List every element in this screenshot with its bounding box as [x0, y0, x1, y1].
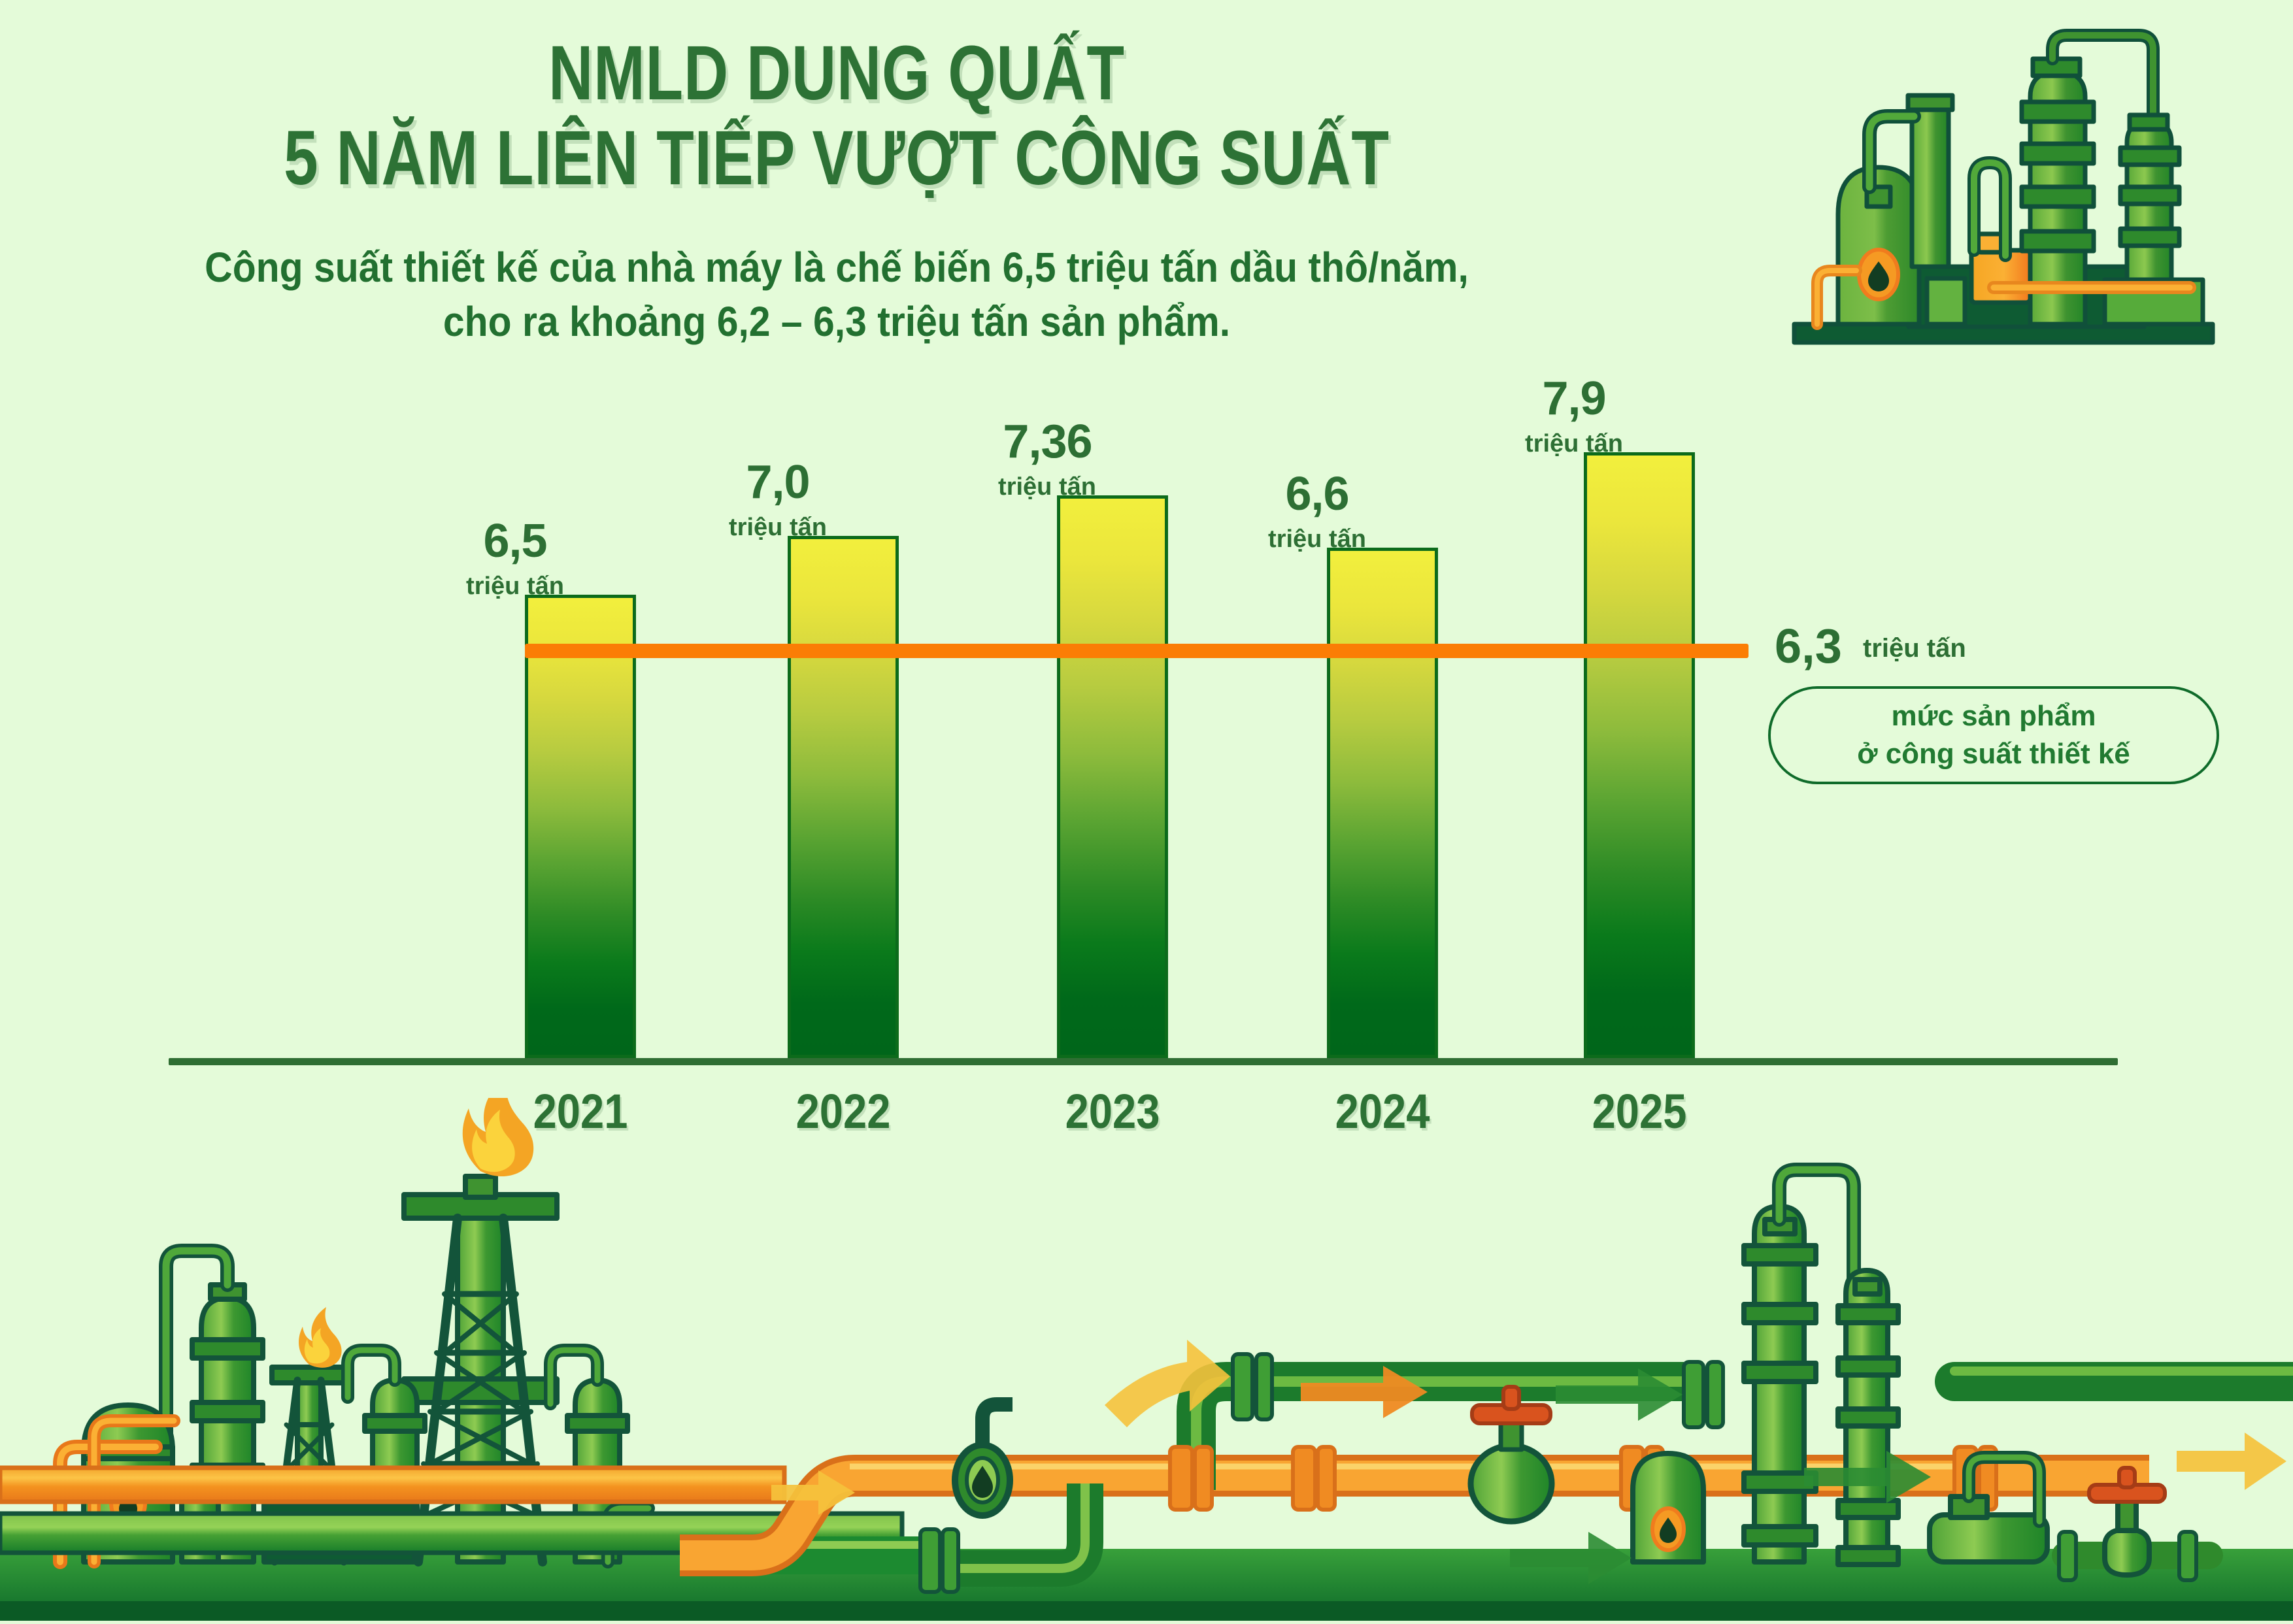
- bar-chart: 6,5 triệu tấn 2021 7,0 triệu tấn 2022 7,…: [0, 366, 2293, 1111]
- x-axis-line: [169, 1058, 2118, 1065]
- reference-callout-line-2: ở công suất thiết kế: [1857, 735, 2130, 773]
- subtitle-line-1: Công suất thiết kế của nhà máy là chế bi…: [67, 240, 1606, 295]
- title-line-2: 5 NĂM LIÊN TIẾP VƯỢT CÔNG SUẤT: [167, 116, 1506, 201]
- bar-2021: [525, 595, 636, 1058]
- bar-value-2025: 7,9: [1515, 375, 1633, 422]
- reference-line: [525, 644, 1749, 658]
- page-subtitle: Công suất thiết kế của nhà máy là chế bi…: [0, 240, 1673, 349]
- bar-value-2023: 7,36: [971, 418, 1124, 465]
- page-title: NMLD DUNG QUẤT 5 NĂM LIÊN TIẾP VƯỢT CÔNG…: [0, 31, 1673, 201]
- reference-callout-line-1: mức sản phẩm: [1891, 697, 2096, 735]
- reference-value: 6,3: [1775, 622, 1842, 671]
- refinery-pipeline-scene: [0, 1098, 2293, 1621]
- oil-refinery-icon: [1778, 18, 2229, 358]
- bar-2025: [1584, 452, 1695, 1058]
- header: NMLD DUNG QUẤT 5 NĂM LIÊN TIẾP VƯỢT CÔNG…: [0, 0, 1765, 366]
- subtitle-line-2: cho ra khoảng 6,2 – 6,3 triệu tấn sản ph…: [67, 295, 1606, 349]
- bar-2024: [1327, 548, 1438, 1058]
- bar-2022: [788, 536, 899, 1058]
- bar-value-2022: 7,0: [719, 459, 837, 506]
- reference-unit: triệu tấn: [1863, 635, 1966, 661]
- bar-value-2021: 6,5: [456, 518, 574, 565]
- bar-2023: [1057, 495, 1168, 1058]
- bar-value-2024: 6,6: [1258, 471, 1376, 518]
- reference-callout: mức sản phẩm ở công suất thiết kế: [1768, 686, 2219, 784]
- title-line-1: NMLD DUNG QUẤT: [167, 31, 1506, 116]
